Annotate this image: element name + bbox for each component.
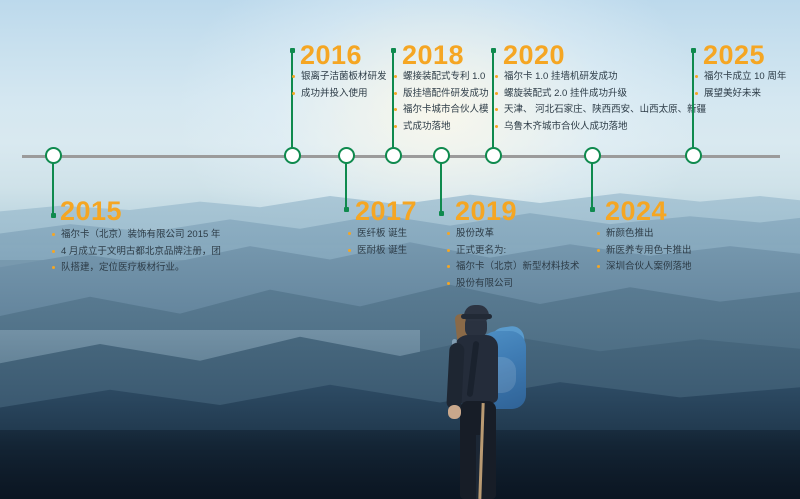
milestone-list-2016: 银离子洁菌板材研发 成功并投入使用 <box>292 70 397 100</box>
stem-dot-2024 <box>590 207 595 212</box>
stem-2019 <box>440 163 442 213</box>
list-item: 福尔卡城市合伙人模 <box>394 103 504 117</box>
year-label-2015: 2015 <box>60 198 122 225</box>
milestone-block-2019: 股份改革 正式更名为: 福尔卡（北京）新型材料技术 股份有限公司 <box>447 227 582 293</box>
milestone-block-2024: 新颜色推出 新医养专用色卡推出 深圳合伙人案例落地 <box>597 227 737 277</box>
list-item: 医耐板 诞生 <box>348 244 448 258</box>
year-label-2018: 2018 <box>402 42 464 69</box>
list-item: 股份改革 <box>447 227 582 241</box>
timeline-node-2016[interactable] <box>284 147 301 164</box>
hat <box>464 305 489 321</box>
stem-2024 <box>591 163 593 209</box>
stem-dot-2019 <box>439 211 444 216</box>
milestone-list-2025: 福尔卡成立 10 周年 展望美好未来 <box>695 70 800 100</box>
list-item: 螺旋装配式 2.0 挂件成功升级 <box>495 87 695 101</box>
milestone-block-2016: 银离子洁菌板材研发 成功并投入使用 <box>292 70 397 103</box>
year-label-2019: 2019 <box>455 198 517 225</box>
list-item: 新医养专用色卡推出 <box>597 244 737 258</box>
stem-dot-2015 <box>51 213 56 218</box>
milestone-list-2024: 新颜色推出 新医养专用色卡推出 深圳合伙人案例落地 <box>597 227 737 274</box>
milestone-block-2018: 螺接装配式专利 1.0 版挂墙配件研发成功 福尔卡城市合伙人模 式成功落地 <box>394 70 504 136</box>
list-item: 医纤板 诞生 <box>348 227 448 241</box>
list-item: 福尔卡 1.0 挂墙机研发成功 <box>495 70 695 84</box>
stem-2020 <box>492 52 494 148</box>
stem-dot-2017 <box>344 207 349 212</box>
stem-dot-2016 <box>290 48 295 53</box>
list-item: 4 月成立于文明古都北京品牌注册，团 <box>52 245 237 259</box>
list-item: 正式更名为: <box>447 244 582 258</box>
stem-2015 <box>52 163 54 215</box>
milestone-block-2017: 医纤板 诞生 医耐板 诞生 <box>348 227 448 260</box>
timeline-node-2024[interactable] <box>584 147 601 164</box>
foreground-shadow <box>0 430 800 499</box>
year-label-2017: 2017 <box>355 198 417 225</box>
list-item: 展望美好未来 <box>695 87 800 101</box>
list-item: 深圳合伙人案例落地 <box>597 260 737 274</box>
stem-dot-2020 <box>491 48 496 53</box>
milestone-list-2020: 福尔卡 1.0 挂墙机研发成功 螺旋装配式 2.0 挂件成功升级 天津、 河北石… <box>495 70 695 133</box>
milestone-block-2020: 福尔卡 1.0 挂墙机研发成功 螺旋装配式 2.0 挂件成功升级 天津、 河北石… <box>495 70 695 136</box>
milestone-list-2018: 螺接装配式专利 1.0 版挂墙配件研发成功 福尔卡城市合伙人模 式成功落地 <box>394 70 504 133</box>
milestone-block-2025: 福尔卡成立 10 周年 展望美好未来 <box>695 70 800 103</box>
year-label-2020: 2020 <box>503 42 565 69</box>
list-item: 银离子洁菌板材研发 <box>292 70 397 84</box>
timeline-node-2025[interactable] <box>685 147 702 164</box>
stem-dot-2018 <box>391 48 396 53</box>
year-label-2016: 2016 <box>300 42 362 69</box>
timeline-node-2017[interactable] <box>338 147 355 164</box>
timeline-infographic: 2015 福尔卡（北京）装饰有限公司 2015 年 4 月成立于文明古都北京品牌… <box>0 0 800 499</box>
year-label-2024: 2024 <box>605 198 667 225</box>
list-item: 螺接装配式专利 1.0 <box>394 70 504 84</box>
stem-dot-2025 <box>691 48 696 53</box>
list-item: 股份有限公司 <box>447 277 582 291</box>
list-item: 新颜色推出 <box>597 227 737 241</box>
timeline-node-2018[interactable] <box>385 147 402 164</box>
timeline-node-2020[interactable] <box>485 147 502 164</box>
list-item: 福尔卡（北京）装饰有限公司 2015 年 <box>52 228 237 242</box>
milestone-list-2015: 福尔卡（北京）装饰有限公司 2015 年 4 月成立于文明古都北京品牌注册，团 … <box>52 228 237 275</box>
list-item: 福尔卡（北京）新型材料技术 <box>447 260 582 274</box>
milestone-block-2015: 福尔卡（北京）装饰有限公司 2015 年 4 月成立于文明古都北京品牌注册，团 … <box>52 228 237 278</box>
timeline-node-2019[interactable] <box>433 147 450 164</box>
timeline-node-2015[interactable] <box>45 147 62 164</box>
list-item: 天津、 河北石家庄、陕西西安、山西太原、新疆 <box>495 103 695 117</box>
milestone-list-2017: 医纤板 诞生 医耐板 诞生 <box>348 227 448 257</box>
hiker-figure <box>432 305 542 499</box>
stem-2017 <box>345 163 347 209</box>
hand <box>448 405 461 419</box>
list-item: 乌鲁木齐城市合伙人成功落地 <box>495 120 695 134</box>
milestone-list-2019: 股份改革 正式更名为: 福尔卡（北京）新型材料技术 股份有限公司 <box>447 227 582 290</box>
list-item: 式成功落地 <box>394 120 504 134</box>
year-label-2025: 2025 <box>703 42 765 69</box>
list-item: 成功并投入使用 <box>292 87 397 101</box>
list-item: 队搭建，定位医疗板材行业。 <box>52 261 237 275</box>
list-item: 版挂墙配件研发成功 <box>394 87 504 101</box>
stem-2025 <box>692 52 694 148</box>
list-item: 福尔卡成立 10 周年 <box>695 70 800 84</box>
